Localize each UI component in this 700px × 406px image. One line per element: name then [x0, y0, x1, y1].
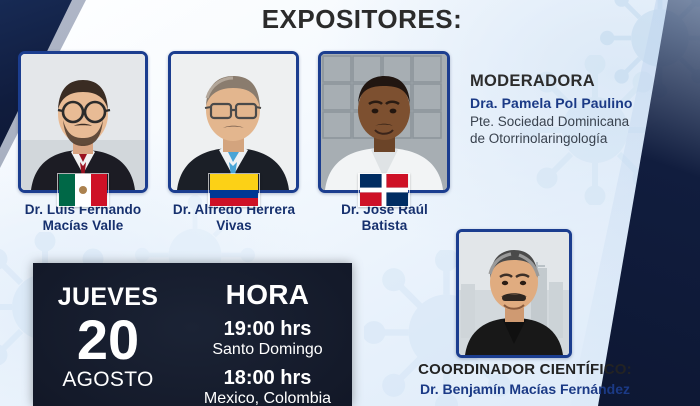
day-number: 20: [33, 314, 183, 366]
mexico-flag-icon: [57, 173, 109, 207]
speaker-photo-2: [171, 54, 296, 190]
page-title: EXPOSITORES:: [0, 4, 700, 35]
time-secondary: 18:00 hrs: [183, 367, 352, 390]
speaker-name-line2: Batista: [312, 218, 457, 234]
webinar-poster: EXPOSITORES:: [0, 0, 700, 406]
month-label: AGOSTO: [33, 368, 183, 392]
timezone-secondary: Mexico, Colombia: [183, 390, 352, 406]
colombia-flag-icon: [208, 173, 260, 207]
speaker-photo-frame-1: [18, 51, 148, 193]
dominican-republic-flag-icon: [358, 173, 410, 207]
moderator-affiliation-line1: Pte. Sociedad Dominicana: [470, 113, 660, 130]
timezone-primary: Santo Domingo: [183, 341, 352, 359]
coordinator-name: Dr. Benjamín Macías Fernández: [380, 381, 670, 397]
moderator-section: MODERADORA Dra. Pamela Pol Paulino Pte. …: [470, 72, 660, 147]
time-primary: 19:00 hrs: [183, 318, 352, 341]
speaker-photo-1: [21, 54, 145, 190]
moderator-name: Dra. Pamela Pol Paulino: [470, 95, 660, 111]
moderator-affiliation: Pte. Sociedad Dominicana de Otorrinolari…: [470, 113, 660, 147]
speaker-name-line2: Vivas: [160, 218, 308, 234]
speaker-photo-3: [321, 54, 447, 190]
coordinator-photo-frame: [456, 229, 572, 358]
moderator-affiliation-line2: de Otorrinolaringología: [470, 130, 660, 147]
speaker-photo-frame-2: [168, 51, 299, 193]
coordinator-photo: [459, 232, 569, 355]
date-block: JUEVES 20 AGOSTO: [33, 263, 183, 406]
speaker-name-line2: Macías Valle: [8, 218, 158, 234]
hour-heading: HORA: [183, 279, 352, 311]
moderator-role-label: MODERADORA: [470, 72, 660, 91]
speaker-photo-frame-3: [318, 51, 450, 193]
time-block: HORA 19:00 hrs Santo Domingo 18:00 hrs M…: [183, 263, 352, 406]
coordinator-role-label: COORDINADOR CIENTÍFICO:: [380, 361, 670, 378]
schedule-panel: JUEVES 20 AGOSTO HORA 19:00 hrs Santo Do…: [33, 263, 352, 406]
